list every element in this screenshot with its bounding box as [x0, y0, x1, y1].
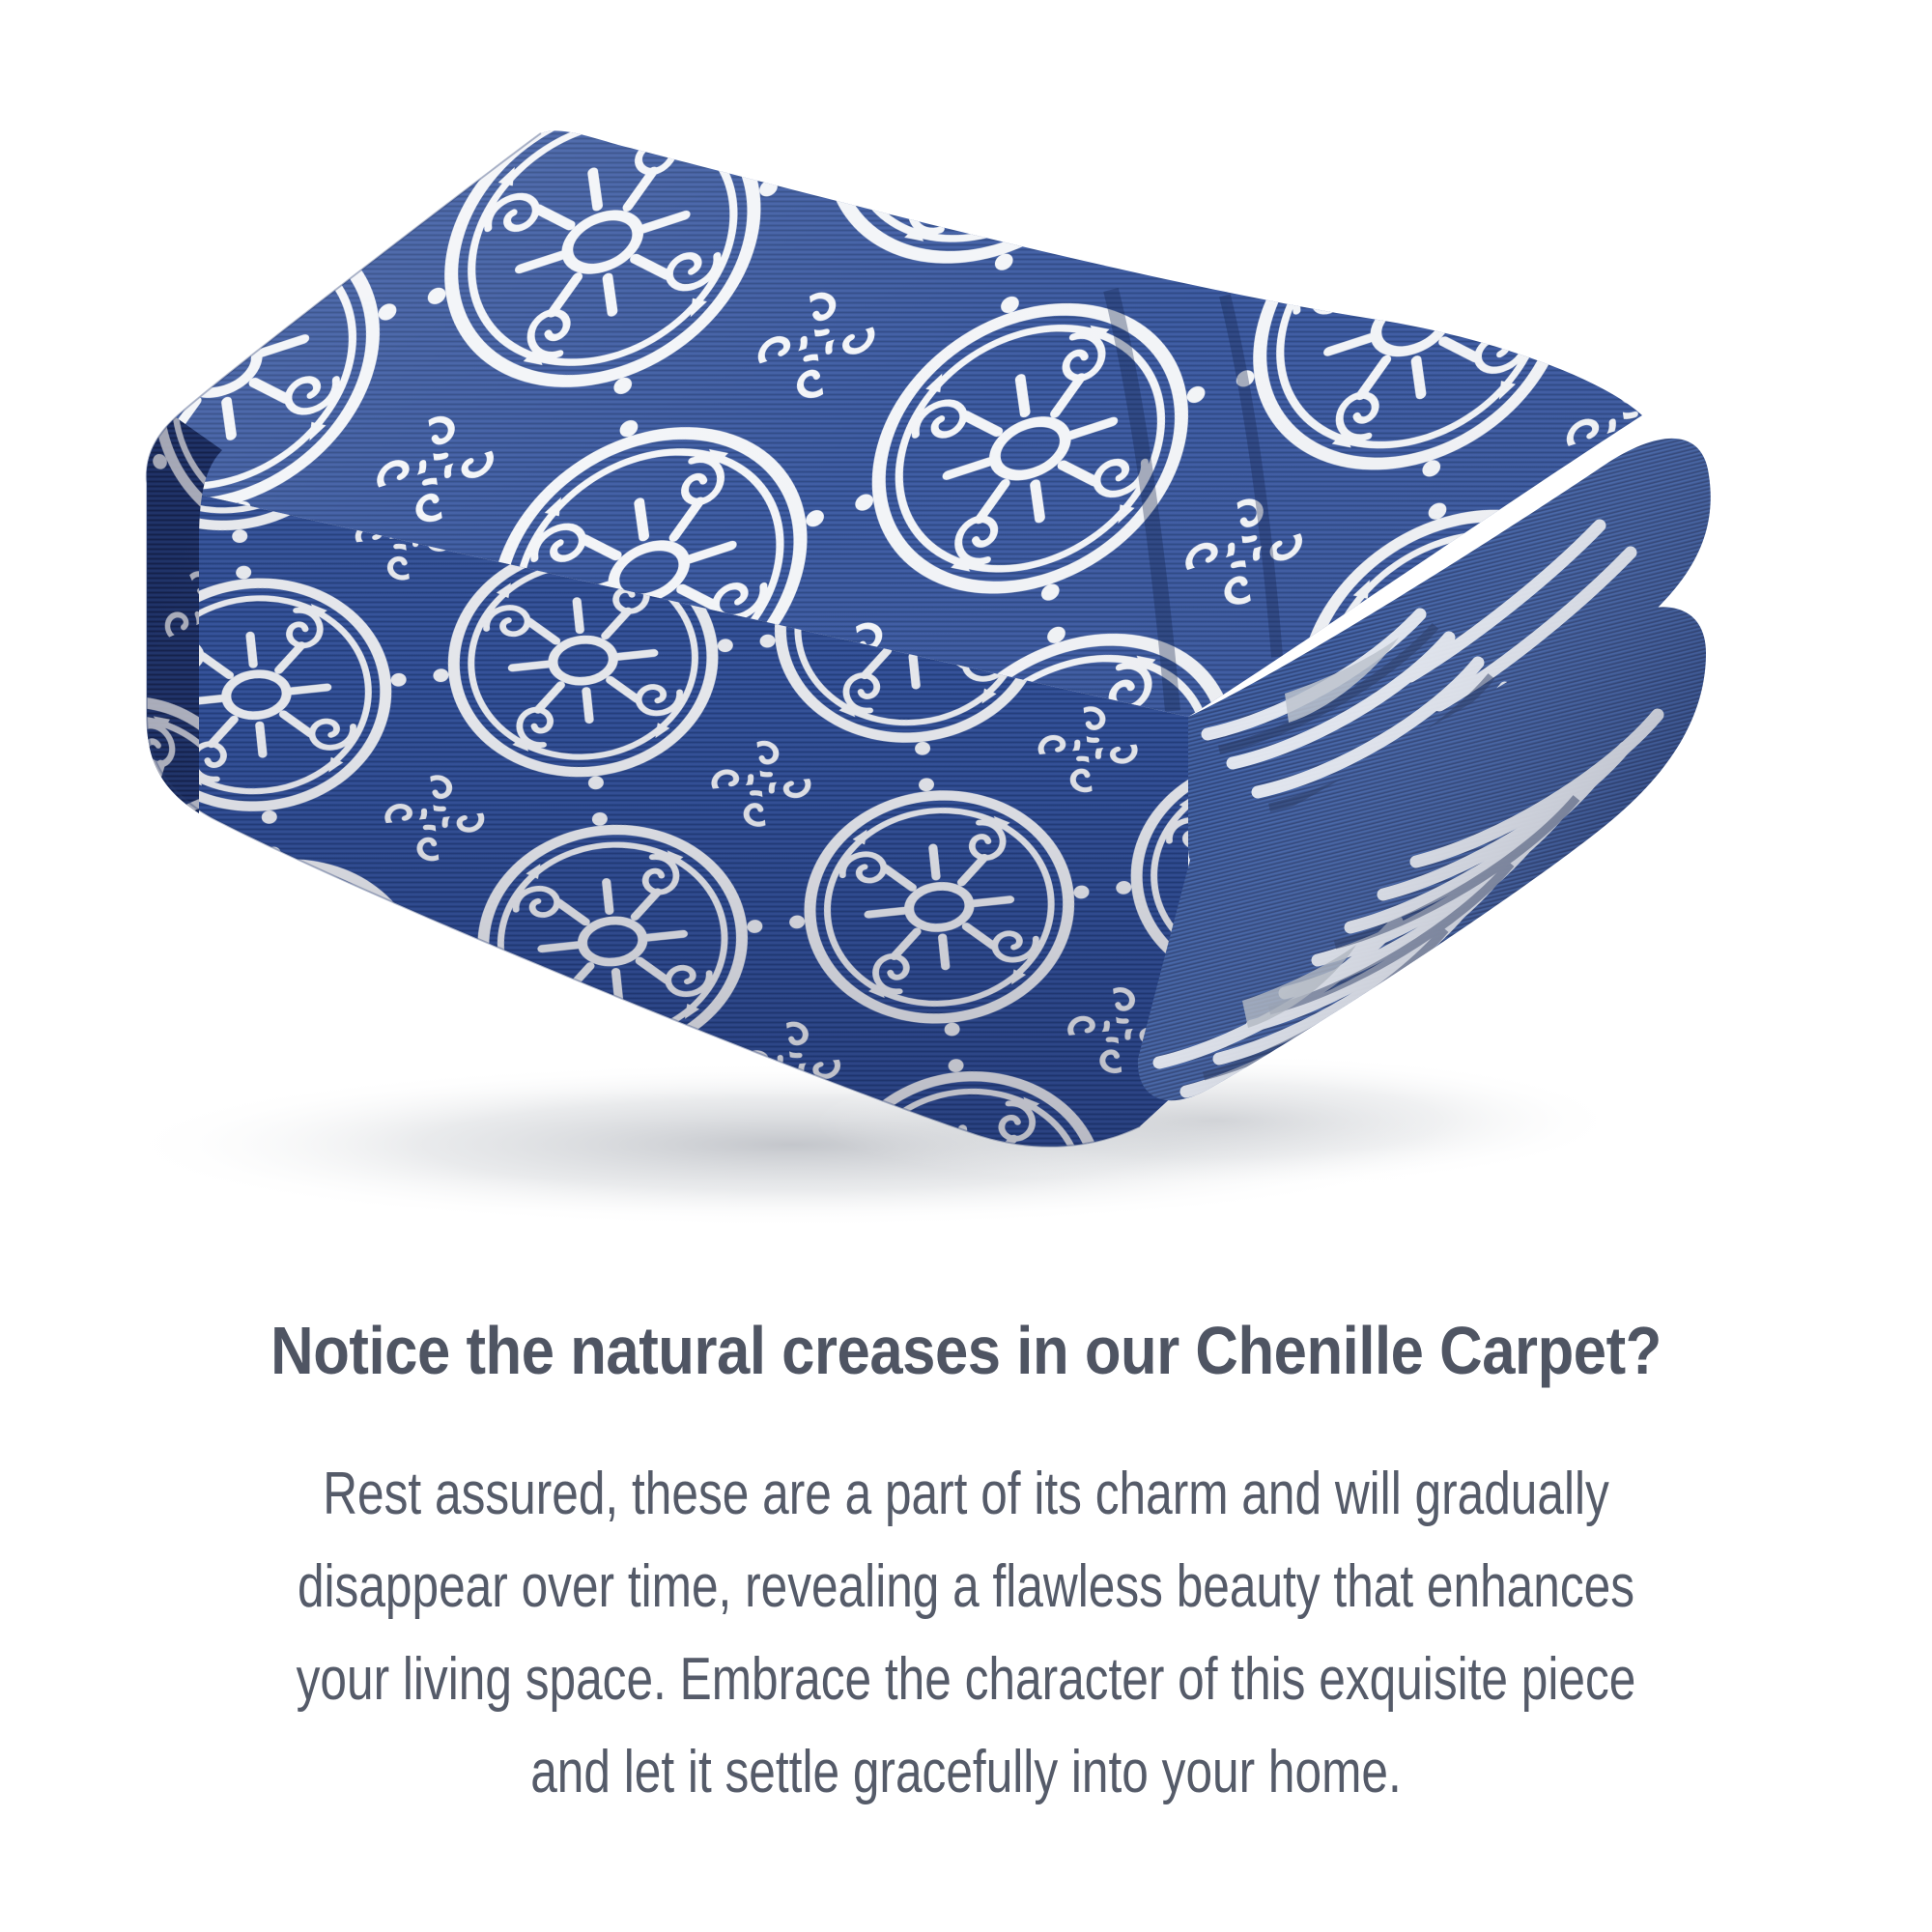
product-photo [0, 0, 1932, 1294]
body-line-4: and let it settle gracefully into your h… [247, 1726, 1685, 1819]
headline: Notice the natural creases in our Chenil… [116, 1309, 1816, 1392]
folded-carpet-illustration [0, 0, 1932, 1294]
caption-block: Notice the natural creases in our Chenil… [0, 1309, 1932, 1819]
product-infographic-page: Notice the natural creases in our Chenil… [0, 0, 1932, 1932]
body-line-2: disappear over time, revealing a flawles… [247, 1541, 1685, 1634]
body-line-3: your living space. Embrace the character… [247, 1634, 1685, 1726]
body-copy: Rest assured, these are a part of its ch… [193, 1448, 1739, 1819]
body-line-1: Rest assured, these are a part of its ch… [247, 1448, 1685, 1541]
